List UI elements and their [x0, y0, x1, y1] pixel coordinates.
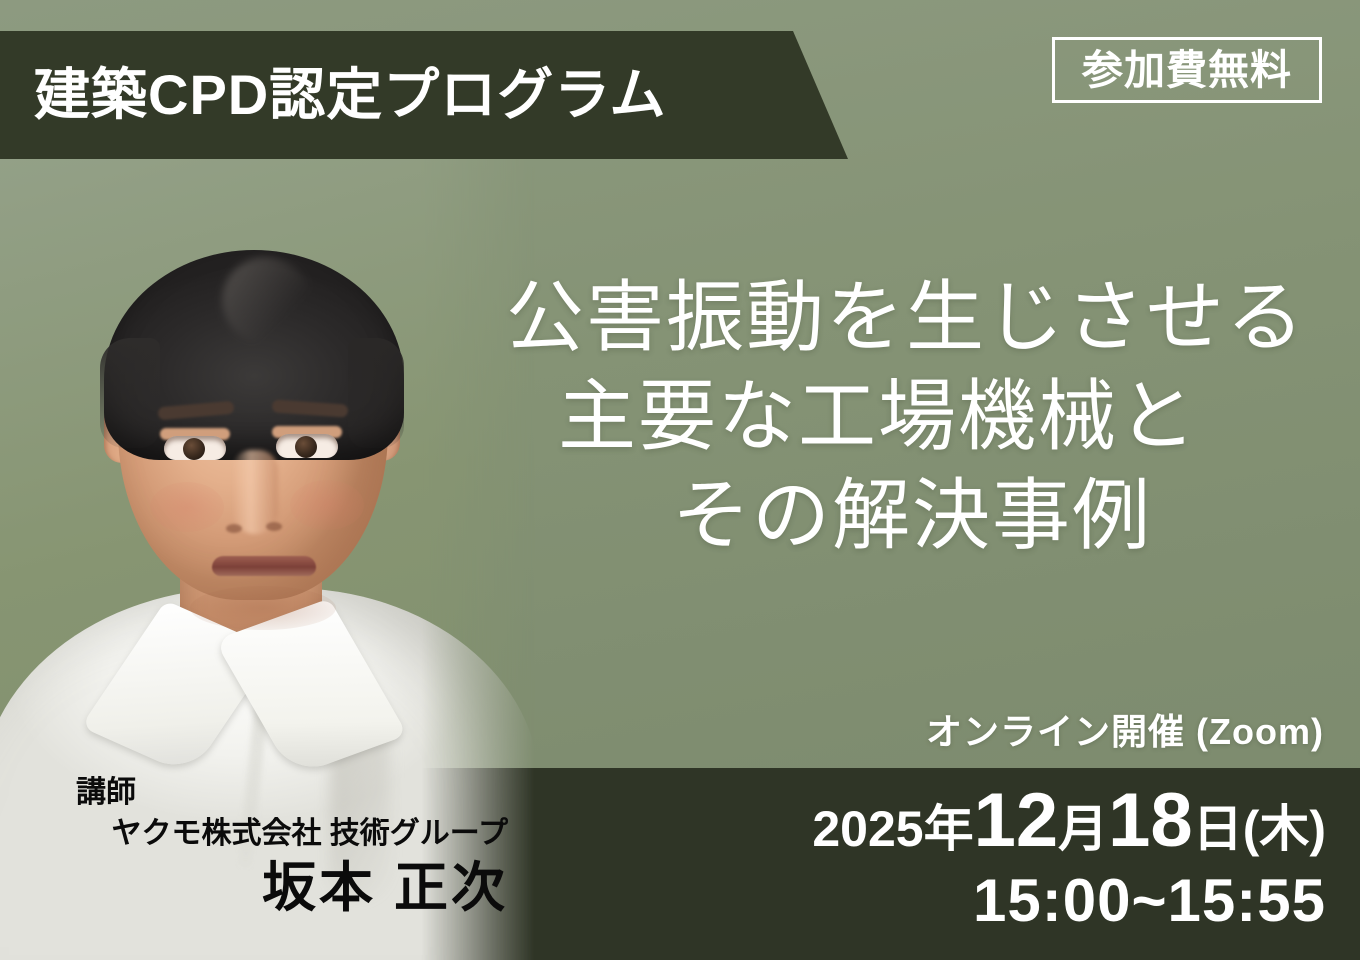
event-date-month-number: 12	[974, 778, 1059, 863]
cpd-program-ribbon: 建築CPD認定プログラム	[0, 31, 860, 159]
iris-right	[295, 436, 317, 458]
hair-sideburn-left	[100, 338, 160, 448]
speaker-credits: 講師 ヤクモ株式会社 技術グループ 坂本 正次	[0, 778, 530, 915]
event-date-weekday: (木)	[1243, 801, 1326, 857]
event-date-day-number: 18	[1108, 778, 1193, 863]
speaker-organization: ヤクモ株式会社 技術グループ	[0, 819, 508, 849]
mouth-shape	[212, 556, 316, 576]
cheek-right-shading	[290, 480, 364, 530]
event-date-line: 2025年12月18日(木)	[812, 783, 1326, 859]
eye-left	[164, 436, 226, 460]
seminar-title-line-3: その解決事例	[380, 466, 1310, 565]
online-format-label: オンライン開催 (Zoom)	[926, 703, 1324, 755]
event-date-day-unit: 日	[1193, 801, 1243, 857]
free-participation-badge: 参加費無料	[1052, 37, 1322, 103]
nostril-left	[226, 524, 242, 533]
cheek-left-shading	[150, 482, 224, 532]
event-time-range: 15:00~15:55	[812, 871, 1326, 931]
eye-right	[276, 434, 338, 458]
event-date-year: 2025年	[812, 801, 973, 857]
cpd-program-label: 建築CPD認定プログラム	[0, 67, 667, 123]
seminar-title-line-2: 主要な工場機械と	[380, 367, 1310, 466]
speaker-name: 坂本 正次	[0, 861, 508, 915]
seminar-banner: 建築CPD認定プログラム 参加費無料	[0, 0, 1360, 960]
free-participation-label: 参加費無料	[1082, 50, 1292, 91]
iris-left	[183, 438, 205, 460]
event-datetime: 2025年12月18日(木) 15:00~15:55	[812, 783, 1326, 931]
speaker-role-label: 講師	[0, 778, 508, 808]
seminar-title-line-1: 公害振動を生じさせる	[380, 268, 1310, 367]
nostril-right	[266, 522, 282, 531]
chin-shading	[190, 586, 336, 630]
seminar-title: 公害振動を生じさせる 主要な工場機械と その解決事例	[380, 268, 1310, 565]
event-date-month-unit: 月	[1058, 801, 1108, 857]
